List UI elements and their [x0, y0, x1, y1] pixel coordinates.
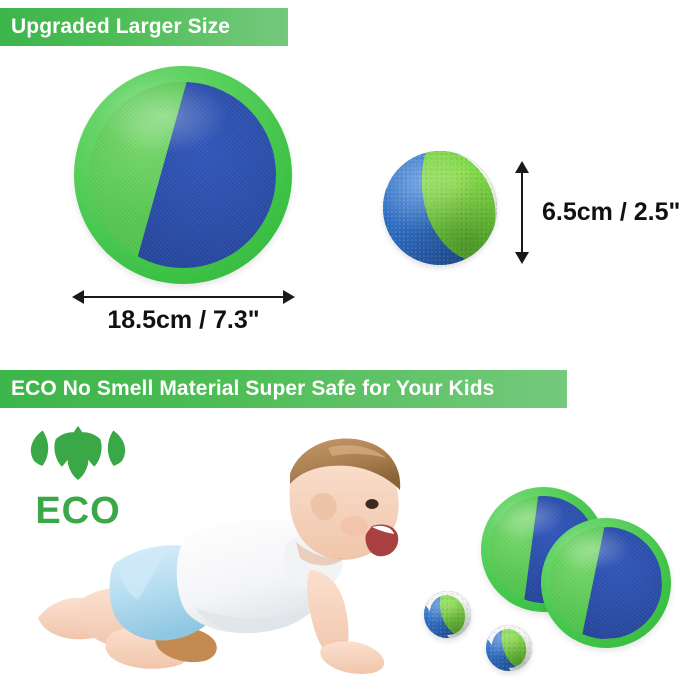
- banner-eco-no-smell: ECO No Smell Material Super Safe for You…: [0, 370, 567, 408]
- paddle-catch-face: [90, 82, 277, 269]
- baby-front-hand: [320, 641, 384, 674]
- product-paddle-main: [74, 66, 292, 284]
- product-ball-small-1: [424, 591, 471, 638]
- dimension-label-paddle-width: 18.5cm / 7.3": [72, 306, 295, 335]
- paddle-face-texture: [90, 82, 277, 269]
- infographic-canvas: Upgraded Larger Size 18.5cm / 7.3" 6.5cm…: [0, 0, 679, 684]
- dimension-line-horizontal: [78, 296, 289, 298]
- banner-eco-label: ECO No Smell Material Super Safe for You…: [11, 377, 494, 401]
- product-paddle-front: [537, 514, 676, 653]
- ball-small-2-shading: [486, 625, 532, 671]
- product-ball-small-2: [486, 625, 532, 671]
- banner-upgraded-label: Upgraded Larger Size: [11, 15, 230, 39]
- arrow-down-icon: [515, 252, 529, 264]
- photo-crawling-baby: [28, 418, 420, 680]
- paddle-front-face: [547, 524, 666, 643]
- arrow-right-icon: [283, 290, 295, 304]
- baby-eye: [366, 499, 379, 509]
- ball-small-1-shading: [424, 591, 471, 638]
- ball-shading: [383, 151, 497, 265]
- baby-figure: [38, 439, 400, 674]
- dimension-line-vertical: [521, 172, 523, 254]
- product-ball-main: [383, 151, 497, 265]
- dimension-label-ball-height: 6.5cm / 2.5": [542, 198, 679, 227]
- banner-upgraded-larger-size: Upgraded Larger Size: [0, 8, 288, 46]
- baby-cheek: [340, 516, 368, 536]
